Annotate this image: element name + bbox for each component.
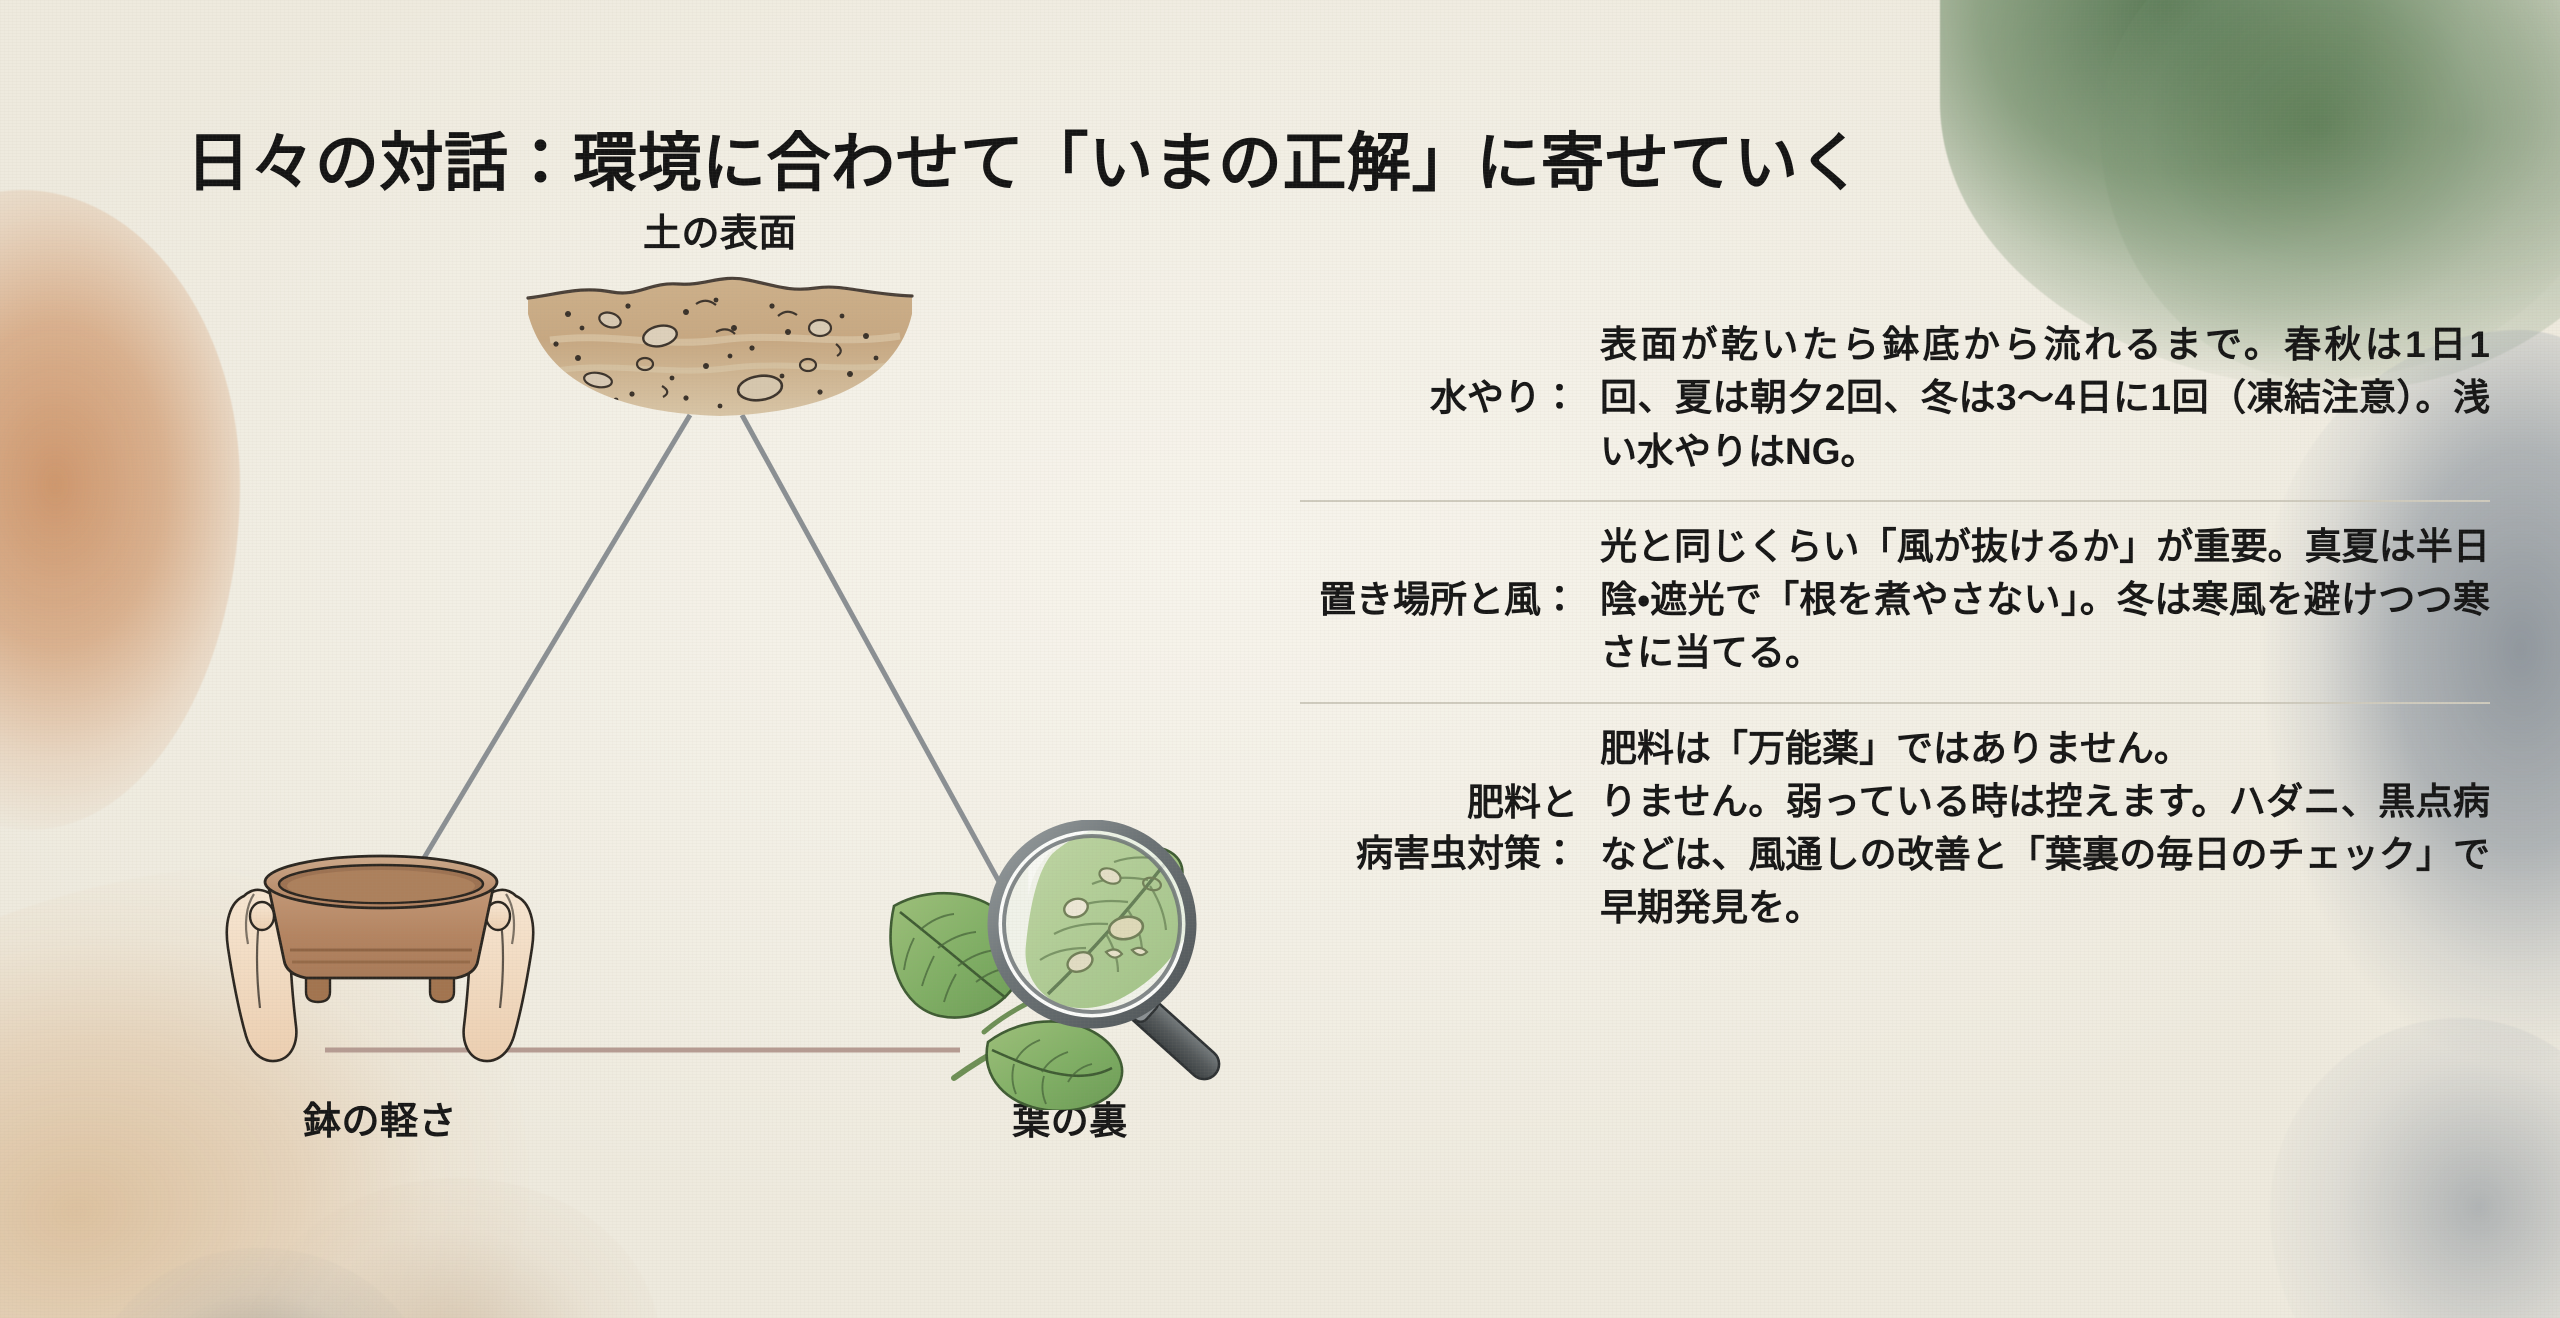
info-label-placement-airflow: 置き場所と風： [1300,574,1600,625]
care-guidelines-list: 水やり： 表面が乾いたら鉢底から流れるまで。春秋は1日1回、夏は朝夕2回、冬は3… [1300,300,2490,957]
node-leaf[interactable] [880,820,1260,1100]
node-soil[interactable] [520,270,920,410]
info-label-watering: 水やり： [1300,372,1600,423]
soil-mound-icon [520,270,920,420]
page-title: 日々の対話：環境に合わせて「いまの正解」に寄せていく [186,112,1863,204]
node-pot[interactable] [210,840,550,1070]
link-soil-to-pot [400,415,690,898]
hands-holding-pot-icon [210,840,550,1070]
node-label-soil: 土の表面 [520,202,920,257]
info-row-watering: 水やり： 表面が乾いたら鉢底から流れるまで。春秋は1日1回、夏は朝夕2回、冬は3… [1300,300,2490,500]
info-label-fertilizer-pests: 肥料と 病害虫対策： [1300,777,1600,879]
info-row-fertilizer-pests: 肥料と 病害虫対策： 肥料は「万能薬」ではありません。 りません。弱っている時は… [1300,702,2490,957]
info-text-fertilizer-pests: 肥料は「万能薬」ではありません。 りません。弱っている時は控えます。ハダニ、黒点… [1600,722,2490,935]
info-text-watering: 表面が乾いたら鉢底から流れるまで。春秋は1日1回、夏は朝夕2回、冬は3〜4日に1… [1600,318,2490,478]
magnifier-over-leaf-icon [880,820,1260,1110]
triangle-diagram: 土の表面 [0,250,1240,1310]
info-row-placement-airflow: 置き場所と風： 光と同じくらい「風が抜けるか」が重要。真夏は半日陰・遮光で「根を… [1300,500,2490,702]
info-text-placement-airflow: 光と同じくらい「風が抜けるか」が重要。真夏は半日陰・遮光で「根を煮やさない」。冬… [1600,520,2490,680]
leaf-bottom [987,1021,1122,1110]
slide-canvas: 日々の対話：環境に合わせて「いまの正解」に寄せていく 土の表面 [0,0,2560,1318]
left-thumb [250,902,274,930]
